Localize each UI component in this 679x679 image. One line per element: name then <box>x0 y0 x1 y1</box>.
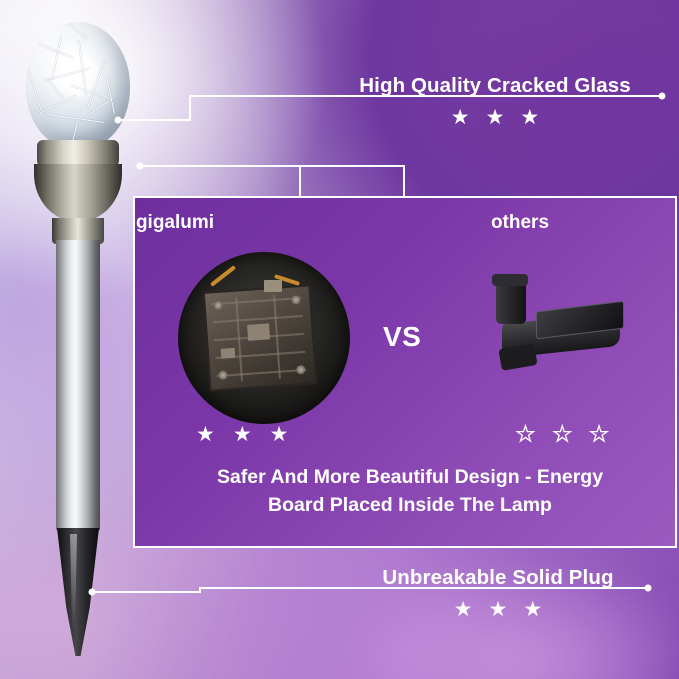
gigalumi-internal-board-photo <box>178 252 350 424</box>
wire <box>210 265 236 287</box>
product-lamp-image <box>18 22 138 642</box>
star-outline-icon: ★ <box>590 424 609 445</box>
comparison-left-stars: ★ ★ ★ <box>196 424 288 445</box>
component <box>264 280 282 292</box>
comparison-right-title: others <box>420 212 620 234</box>
solid-plug-spike <box>57 528 99 656</box>
callout-top-title: High Quality Cracked Glass <box>330 74 660 98</box>
star-icon: ★ <box>196 424 215 445</box>
star-outline-icon: ★ <box>516 424 535 445</box>
others-post <box>496 280 526 324</box>
star-icon: ★ <box>520 107 539 128</box>
callout-top-stars: ★ ★ ★ <box>330 107 660 128</box>
star-icon: ★ <box>270 424 289 445</box>
cracked-glass-globe <box>26 22 130 150</box>
energy-board <box>203 284 318 391</box>
product-infographic: High Quality Cracked Glass ★ ★ ★ gigalum… <box>0 0 679 679</box>
others-cap <box>492 274 528 286</box>
callout-bottom-stars: ★ ★ ★ <box>338 599 658 620</box>
callout-bottom: Unbreakable Solid Plug ★ ★ ★ <box>338 566 658 620</box>
comparison-left-title: gigalumi <box>60 212 290 234</box>
comparison-caption-line2: Board Placed Inside The Lamp <box>160 492 660 520</box>
star-icon: ★ <box>523 599 542 620</box>
star-icon: ★ <box>489 599 508 620</box>
star-icon: ★ <box>486 107 505 128</box>
star-icon: ★ <box>451 107 470 128</box>
others-external-panel-photo <box>480 272 640 382</box>
comparison-right-stars: ★ ★ ★ <box>516 424 608 445</box>
star-outline-icon: ★ <box>553 424 572 445</box>
star-icon: ★ <box>454 599 473 620</box>
star-icon: ★ <box>233 424 252 445</box>
vs-label: VS <box>383 321 421 353</box>
stainless-tube <box>56 240 100 530</box>
comparison-caption: Safer And More Beautiful Design - Energy… <box>160 464 660 519</box>
comparison-caption-line1: Safer And More Beautiful Design - Energy <box>160 464 660 492</box>
others-foot <box>498 343 537 371</box>
callout-top: High Quality Cracked Glass ★ ★ ★ <box>330 74 660 128</box>
callout-bottom-title: Unbreakable Solid Plug <box>338 566 658 590</box>
